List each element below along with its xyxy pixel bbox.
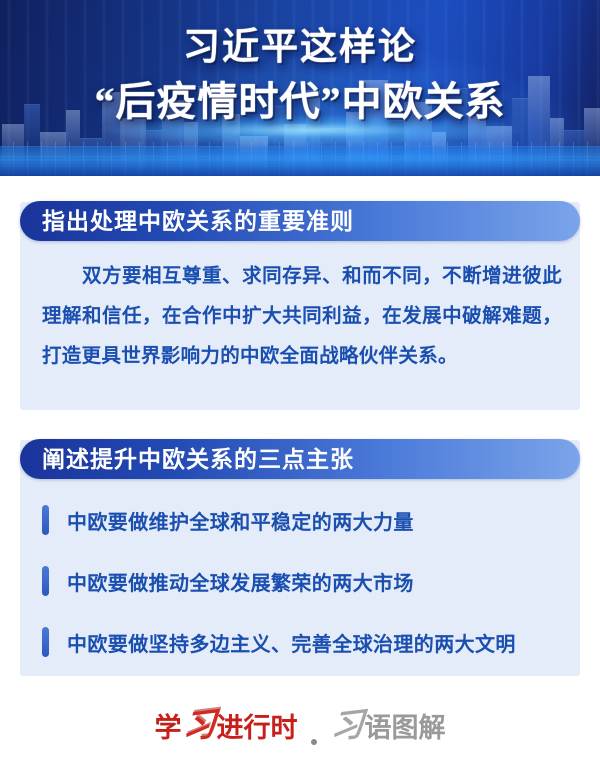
title-line-1: 习近平这样论: [0, 22, 600, 74]
bullet-bar-icon: [42, 627, 49, 657]
section-card-2: 阐述提升中欧关系的三点主张 中欧要做维护全球和平稳定的两大力量 中欧要做推动全球…: [20, 440, 580, 676]
brand-suffix-text: 进行时: [217, 706, 298, 745]
header-banner: 习近平这样论 “后疫情时代”中欧关系: [0, 0, 600, 176]
separator-dot-icon: [311, 739, 317, 745]
list-item-label: 中欧要做坚持多边主义、完善全球治理的两大文明: [67, 628, 516, 657]
section-2-bullet-list: 中欧要做维护全球和平稳定的两大力量 中欧要做推动全球发展繁荣的两大市场 中欧要做…: [42, 492, 564, 675]
calligraphic-xi-icon: 习: [181, 697, 217, 749]
banner-bottom-band: [0, 146, 600, 176]
list-item-label: 中欧要做推动全球发展繁荣的两大市场: [67, 567, 414, 596]
section-card-1: 指出处理中欧关系的重要准则 双方要相互尊重、求同存异、和而不同，不断增进彼此理解…: [20, 202, 580, 410]
page-title: 习近平这样论 “后疫情时代”中欧关系: [0, 22, 600, 130]
infographic-page: 习近平这样论 “后疫情时代”中欧关系 指出处理中欧关系的重要准则 双方要相互尊重…: [0, 0, 600, 771]
list-item-label: 中欧要做维护全球和平稳定的两大力量: [67, 506, 414, 535]
bullet-bar-icon: [42, 566, 49, 596]
list-item: 中欧要做坚持多边主义、完善全球治理的两大文明: [42, 614, 564, 670]
brand-sub-text: 语图解: [365, 706, 446, 745]
calligraphic-xi-gray-icon: 习: [329, 697, 365, 749]
section-2-heading-text: 阐述提升中欧关系的三点主张: [42, 439, 354, 479]
section-1-heading-pill: 指出处理中欧关系的重要准则: [20, 201, 580, 241]
brand-xuexi-jinxingshi: 学 习 进行时: [155, 699, 298, 747]
section-1-paragraph: 双方要相互尊重、求同存异、和而不同，不断增进彼此理解和信任，在合作中扩大共同利益…: [42, 256, 562, 376]
list-item: 中欧要做推动全球发展繁荣的两大市场: [42, 553, 564, 609]
list-item: 中欧要做维护全球和平稳定的两大力量: [42, 492, 564, 548]
section-1-heading-text: 指出处理中欧关系的重要准则: [42, 201, 354, 241]
footer-branding: 学 习 进行时 习 语图解: [0, 692, 600, 754]
brand-xiyu-tujie: 习 语图解: [330, 699, 446, 747]
bullet-bar-icon: [42, 505, 49, 535]
section-2-heading-pill: 阐述提升中欧关系的三点主张: [20, 439, 580, 479]
brand-prefix-char: 学: [155, 706, 182, 745]
title-line-2: “后疫情时代”中欧关系: [0, 74, 600, 130]
